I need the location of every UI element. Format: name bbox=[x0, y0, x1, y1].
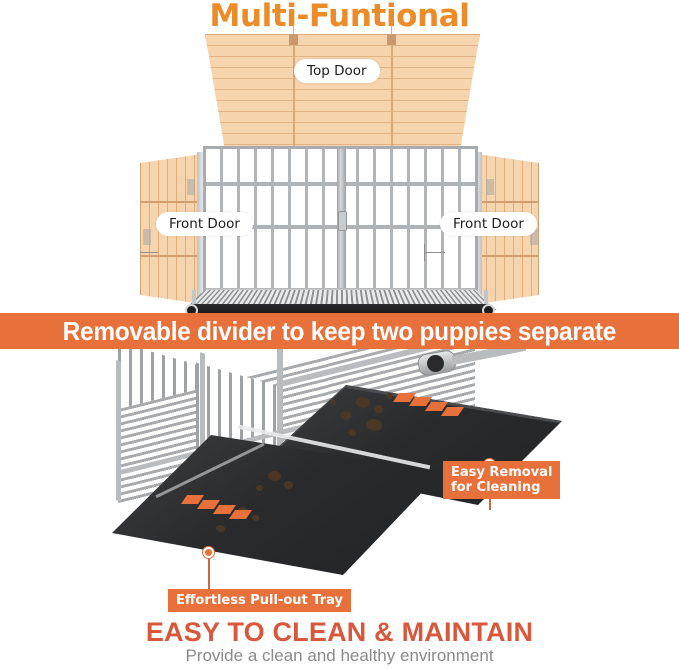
callout-front-door-left: Front Door bbox=[156, 212, 253, 236]
feature-banner-text: Removable divider to keep two puppies se… bbox=[63, 316, 616, 347]
divider-latch-icon bbox=[338, 211, 347, 231]
callout-front-door-right: Front Door bbox=[440, 212, 537, 236]
leader-front-door-right bbox=[425, 252, 445, 253]
leader-pull-out-tray bbox=[208, 558, 210, 589]
marker-pull-out-tray bbox=[203, 547, 214, 558]
top-door-tab-left bbox=[289, 34, 298, 45]
top-door-stem-left bbox=[293, 25, 294, 34]
top-door-panel bbox=[205, 34, 480, 162]
debris bbox=[268, 471, 281, 481]
door-rail bbox=[478, 255, 538, 257]
top-door-tab-right bbox=[387, 34, 396, 45]
infographic-root: Multi-Funtional bbox=[0, 0, 679, 669]
door-hinge-icon bbox=[143, 229, 151, 245]
debris bbox=[330, 399, 336, 405]
debris bbox=[252, 515, 259, 521]
debris bbox=[216, 525, 225, 532]
debris bbox=[374, 405, 383, 413]
debris bbox=[340, 411, 351, 420]
debris bbox=[356, 397, 370, 408]
feature-banner: Removable divider to keep two puppies se… bbox=[0, 313, 679, 349]
debris bbox=[386, 393, 393, 399]
footer-subtitle: Provide a clean and healthy environment bbox=[0, 646, 679, 666]
debris bbox=[284, 481, 293, 489]
debris bbox=[256, 485, 263, 491]
cleaning-photo bbox=[0, 349, 679, 611]
cage-frame-post bbox=[116, 360, 121, 501]
footer-title: EASY TO CLEAN & MAINTAIN bbox=[0, 617, 679, 648]
tag-pull-out-tray: Effortless Pull-out Tray bbox=[168, 589, 351, 612]
debris bbox=[366, 419, 382, 431]
caster-leg bbox=[192, 290, 196, 304]
top-door-surface bbox=[205, 34, 480, 162]
top-door-seam-right bbox=[391, 34, 393, 162]
caster-leg bbox=[484, 290, 488, 304]
door-rail bbox=[478, 201, 538, 203]
top-door-seam-left bbox=[293, 34, 295, 162]
door-hinge-icon bbox=[486, 179, 494, 195]
debris bbox=[348, 429, 356, 436]
door-rail bbox=[141, 255, 201, 257]
door-rail bbox=[141, 201, 201, 203]
leader-front-door-left bbox=[140, 252, 158, 253]
door-hinge-icon bbox=[187, 179, 195, 195]
top-door-stem-right bbox=[391, 25, 392, 34]
leader-tick-right bbox=[424, 244, 425, 261]
tag-easy-removal: Easy Removal for Cleaning bbox=[443, 461, 560, 499]
caster-hub bbox=[427, 355, 444, 372]
callout-top-door: Top Door bbox=[294, 59, 380, 83]
